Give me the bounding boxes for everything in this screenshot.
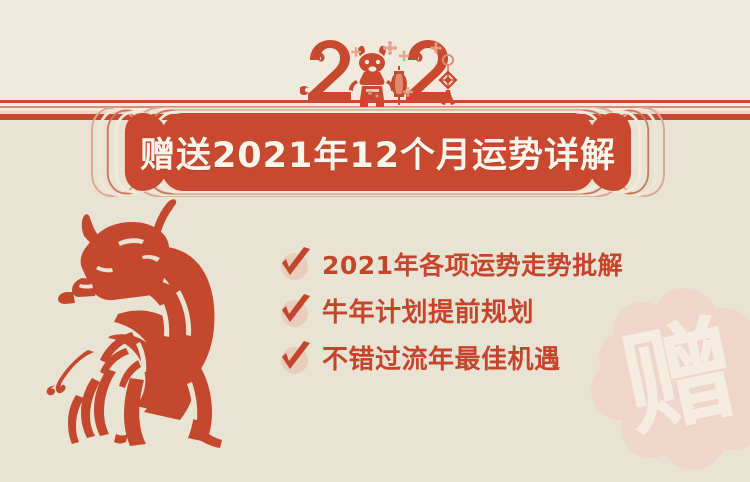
list-item-label: 2021年各项运势走势批解 (322, 246, 623, 282)
list-item-label: 牛年计划提前规划 (322, 292, 534, 329)
list-item: 不错过流年最佳机遇 (276, 334, 696, 381)
list-item: 2021年各项运势走势批解 (276, 240, 696, 287)
charging-bull-illustration (22, 186, 272, 448)
promo-poster: 赠送2021年12个月运势详解 (0, 0, 750, 482)
lantern-icon (391, 66, 407, 105)
check-icon (276, 292, 314, 330)
feature-list: 2021年各项运势走势批解 牛年计划提前规划 不错过流年最佳机遇 (276, 240, 696, 381)
list-item-label: 不错过流年最佳机遇 (322, 339, 561, 376)
list-item: 牛年计划提前规划 (276, 287, 696, 334)
check-icon (276, 245, 314, 283)
new-year-2021-decoration (300, 26, 465, 110)
check-icon (276, 339, 314, 377)
